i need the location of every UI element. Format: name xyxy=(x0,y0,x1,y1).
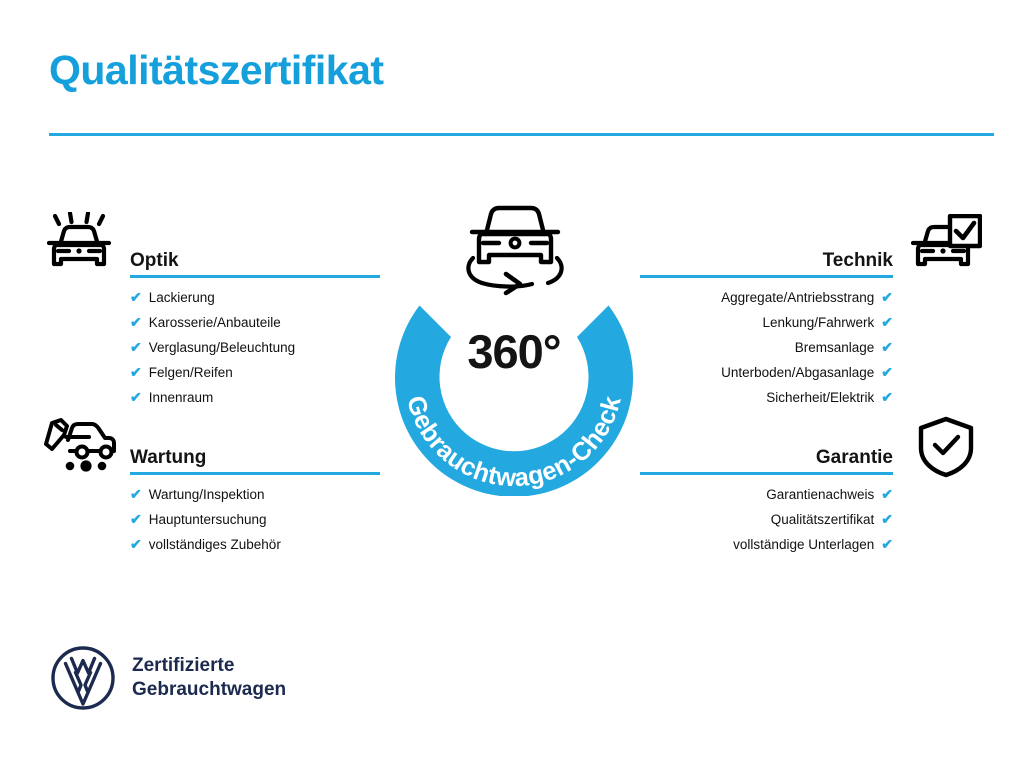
section-divider-technik xyxy=(640,275,893,278)
list-item-label: Wartung/Inspektion xyxy=(149,488,265,502)
shield-check-icon xyxy=(916,416,976,478)
list-item-label: Lackierung xyxy=(149,291,215,305)
section-header-wartung: Wartung xyxy=(130,435,380,469)
list-item: ✔ vollständiges Zubehör xyxy=(130,537,380,552)
section-list-optik: ✔ Lackierung ✔ Karosserie/Anbauteile ✔ V… xyxy=(130,290,380,405)
title-divider xyxy=(49,133,994,136)
section-title-technik: Technik xyxy=(823,251,893,270)
check-icon: ✔ xyxy=(881,487,893,501)
section-list-garantie: Garantienachweis ✔ Qualitätszertifikat ✔… xyxy=(640,487,893,552)
list-item-label: Garantienachweis xyxy=(766,488,874,502)
section-header-technik: Technik xyxy=(640,238,893,272)
list-item: Sicherheit/Elektrik ✔ xyxy=(640,390,893,405)
list-item-label: Lenkung/Fahrwerk xyxy=(762,316,874,330)
check-icon: ✔ xyxy=(130,340,142,354)
pencil-car-service-icon xyxy=(44,418,116,474)
list-item: ✔ Karosserie/Anbauteile xyxy=(130,315,380,330)
list-item-label: Unterboden/Abgasanlage xyxy=(721,366,874,380)
badge-center-label: 360° xyxy=(372,328,656,375)
section-header-optik: Optik xyxy=(130,238,380,272)
check-icon: ✔ xyxy=(130,512,142,526)
list-item: Lenkung/Fahrwerk ✔ xyxy=(640,315,893,330)
footer-line-1: Zertifizierte xyxy=(132,654,286,678)
check-icon: ✔ xyxy=(130,290,142,304)
check-icon: ✔ xyxy=(881,390,893,404)
check-icon: ✔ xyxy=(130,365,142,379)
check-icon: ✔ xyxy=(130,487,142,501)
page-title: Qualitätszertifikat xyxy=(49,50,384,91)
section-divider-wartung xyxy=(130,472,380,475)
section-title-garantie: Garantie xyxy=(816,448,893,467)
volkswagen-logo xyxy=(50,645,116,711)
check-icon: ✔ xyxy=(130,315,142,329)
list-item: Aggregate/Antriebsstrang ✔ xyxy=(640,290,893,305)
check-icon: ✔ xyxy=(881,537,893,551)
check-icon: ✔ xyxy=(881,365,893,379)
footer-brand-text: Zertifizierte Gebrauchtwagen xyxy=(132,654,286,703)
list-item: ✔ Wartung/Inspektion xyxy=(130,487,380,502)
list-item-label: Qualitätszertifikat xyxy=(771,513,875,527)
section-header-garantie: Garantie xyxy=(640,435,893,469)
car-checkbox-icon xyxy=(910,214,982,274)
list-item: Unterboden/Abgasanlage ✔ xyxy=(640,365,893,380)
car-front-lights-icon xyxy=(44,212,114,274)
list-item: vollständige Unterlagen ✔ xyxy=(640,537,893,552)
list-item: ✔ Innenraum xyxy=(130,390,380,405)
list-item: ✔ Lackierung xyxy=(130,290,380,305)
footer-brand: Zertifizierte Gebrauchtwagen xyxy=(50,645,286,711)
list-item-label: vollständige Unterlagen xyxy=(733,538,874,552)
list-item-label: Hauptuntersuchung xyxy=(149,513,267,527)
list-item: ✔ Verglasung/Beleuchtung xyxy=(130,340,380,355)
check-icon: ✔ xyxy=(130,390,142,404)
section-divider-garantie xyxy=(640,472,893,475)
list-item: ✔ Felgen/Reifen xyxy=(130,365,380,380)
footer-line-2: Gebrauchtwagen xyxy=(132,678,286,702)
list-item-label: Aggregate/Antriebsstrang xyxy=(721,291,874,305)
section-title-wartung: Wartung xyxy=(130,448,206,467)
section-list-wartung: ✔ Wartung/Inspektion ✔ Hauptuntersuchung… xyxy=(130,487,380,552)
list-item-label: Felgen/Reifen xyxy=(149,366,233,380)
list-item-label: Karosserie/Anbauteile xyxy=(149,316,281,330)
check-icon: ✔ xyxy=(881,290,893,304)
badge-360-gebrauchtwagen-check: Gebrauchtwagen-Check 360° xyxy=(372,196,656,496)
check-icon: ✔ xyxy=(130,537,142,551)
list-item-label: Bremsanlage xyxy=(795,341,875,355)
section-title-optik: Optik xyxy=(130,251,179,270)
list-item: Qualitätszertifikat ✔ xyxy=(640,512,893,527)
check-icon: ✔ xyxy=(881,512,893,526)
list-item: Bremsanlage ✔ xyxy=(640,340,893,355)
certificate-page: Qualitätszertifikat Optik ✔ Lackierung ✔… xyxy=(0,0,1024,768)
car-rotation-icon xyxy=(460,196,570,296)
list-item-label: Innenraum xyxy=(149,391,214,405)
list-item-label: Sicherheit/Elektrik xyxy=(766,391,874,405)
section-divider-optik xyxy=(130,275,380,278)
list-item: ✔ Hauptuntersuchung xyxy=(130,512,380,527)
check-icon: ✔ xyxy=(881,340,893,354)
section-optik: Optik ✔ Lackierung ✔ Karosserie/Anbautei… xyxy=(130,238,380,415)
list-item-label: vollständiges Zubehör xyxy=(149,538,281,552)
check-icon: ✔ xyxy=(881,315,893,329)
list-item: Garantienachweis ✔ xyxy=(640,487,893,502)
section-garantie: Garantie Garantienachweis ✔ Qualitätszer… xyxy=(640,435,893,562)
list-item-label: Verglasung/Beleuchtung xyxy=(149,341,295,355)
section-wartung: Wartung ✔ Wartung/Inspektion ✔ Hauptunte… xyxy=(130,435,380,562)
section-technik: Technik Aggregate/Antriebsstrang ✔ Lenku… xyxy=(640,238,893,415)
section-list-technik: Aggregate/Antriebsstrang ✔ Lenkung/Fahrw… xyxy=(640,290,893,405)
